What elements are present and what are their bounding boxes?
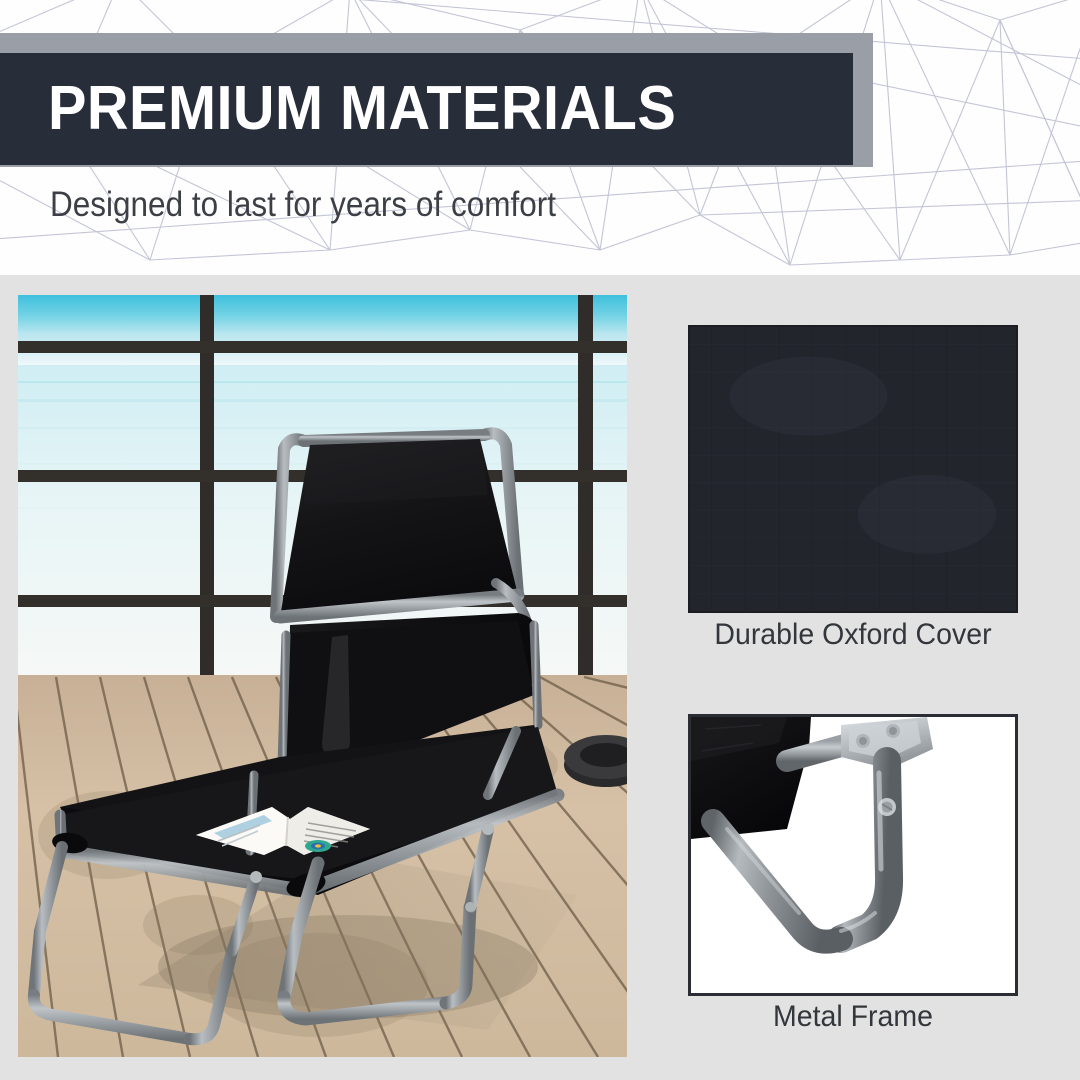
oxford-fabric-texture [690, 327, 1016, 611]
page-subtitle: Designed to last for years of comfort [50, 186, 556, 225]
lounger-scene-illustration [18, 295, 627, 1057]
page-title: PREMIUM MATERIALS [48, 53, 676, 165]
feature-swatch-oxford-cover [688, 325, 1018, 613]
feature-caption-oxford-cover: Durable Oxford Cover [696, 618, 1010, 652]
feature-panel-metal-frame [688, 714, 1018, 996]
hero-product-photo [18, 295, 627, 1057]
metal-frame-closeup [691, 717, 1015, 993]
infographic-canvas: PREMIUM MATERIALS Designed to last for y… [0, 0, 1080, 1080]
feature-caption-metal-frame: Metal Frame [696, 1000, 1010, 1034]
